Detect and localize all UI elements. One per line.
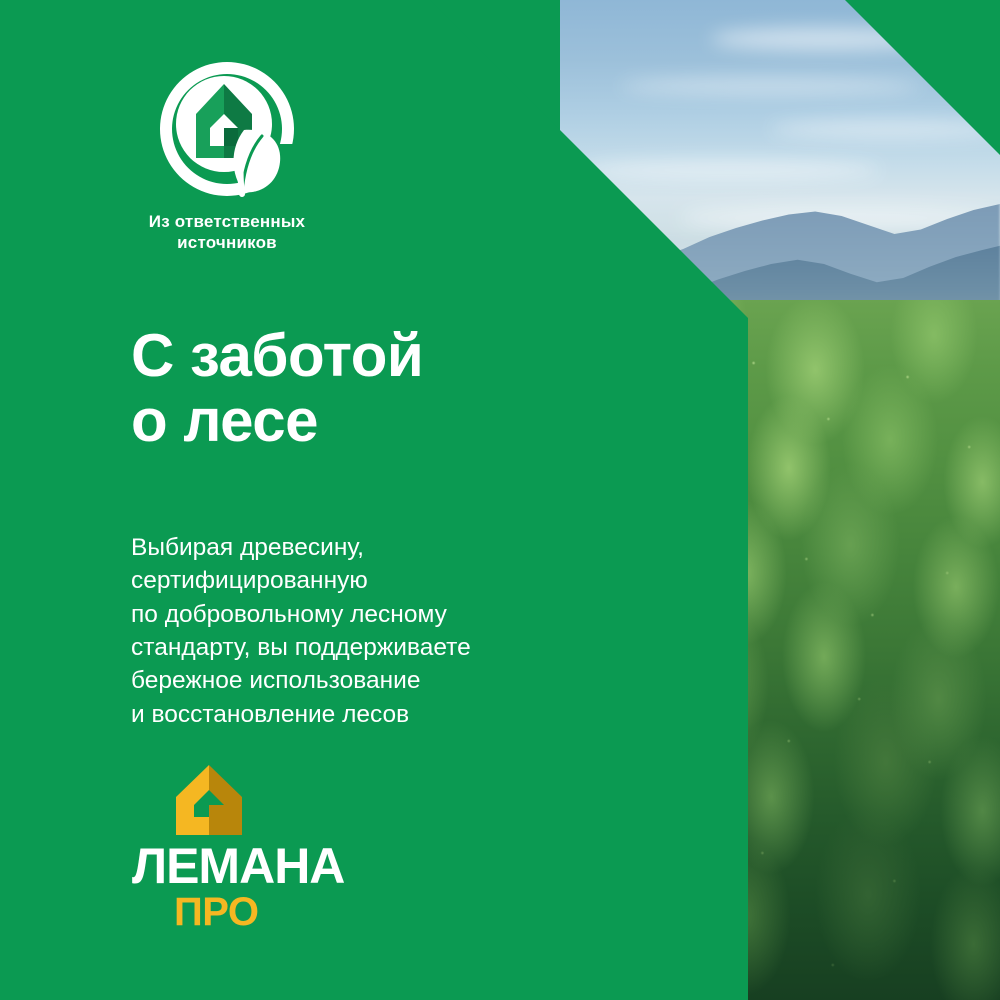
lemana-house-roof-icon — [170, 761, 248, 839]
brand-name: ЛЕМАНА — [132, 841, 372, 891]
headline: С заботой о лесе — [131, 324, 691, 454]
brand-suffix: ПРО — [174, 892, 372, 932]
cloud-icon — [580, 160, 880, 180]
headline-line2: о лесе — [131, 389, 691, 454]
headline-line1: С заботой — [131, 324, 691, 389]
house-with-leaf-in-circle-icon — [156, 58, 298, 200]
certification-badge: Из ответственных источников — [122, 58, 332, 253]
poster-root: Из ответственных источников С заботой о … — [0, 0, 1000, 1000]
cloud-icon — [770, 120, 1000, 138]
certification-caption-line1: Из ответственных — [122, 212, 332, 233]
lemana-pro-logo: ЛЕМАНА ПРО — [132, 761, 372, 932]
certification-caption-line2: источников — [122, 233, 332, 254]
cloud-icon — [620, 78, 920, 94]
body-copy: Выбирая древесину, сертифицированную по … — [131, 531, 651, 731]
certification-caption: Из ответственных источников — [122, 212, 332, 253]
